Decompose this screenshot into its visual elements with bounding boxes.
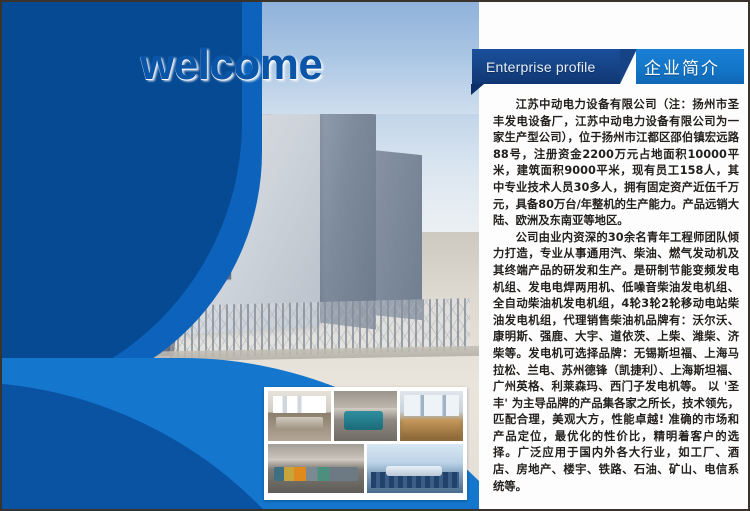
- left-visual-panel: 中动电力 扬州中动电力设备有限公司 Zhongdo: [2, 2, 479, 509]
- ribbon-english-label: Enterprise profile: [472, 59, 595, 75]
- ribbon-notch: [620, 49, 637, 84]
- company-description: 江苏中动电力设备有限公司（注：扬州市圣丰发电设备厂，江苏中动电力设备有限公司为一…: [493, 97, 739, 495]
- ribbon-chinese-label: 企业简介: [636, 54, 720, 79]
- company-description-paragraph-2: 公司由业内资深的30余名青年工程师团队倾力打造，专业从事通用汽、柴油、燃气发动机…: [493, 230, 739, 496]
- assembly-line-photo: [268, 444, 364, 493]
- company-description-paragraph-1: 江苏中动电力设备有限公司（注：扬州市圣丰发电设备厂，江苏中动电力设备有限公司为一…: [493, 97, 739, 230]
- sales-office-photo: [400, 391, 463, 441]
- collage-row-bottom: [268, 444, 463, 493]
- profile-text-panel: Enterprise profile 企业简介 江苏中动电力设备有限公司（注：扬…: [479, 2, 748, 509]
- section-header-ribbon: Enterprise profile 企业简介: [472, 49, 744, 84]
- generator-workshop-photo: [334, 391, 397, 441]
- conference-room-photo: [367, 444, 463, 493]
- ribbon-chinese-segment: 企业简介: [636, 49, 744, 84]
- ribbon-english-segment: Enterprise profile: [472, 49, 620, 84]
- ribbon-corner-fold: [471, 84, 484, 95]
- company-profile-banner: 中动电力 扬州中动电力设备有限公司 Zhongdo: [0, 0, 750, 511]
- page-title: welcome: [140, 40, 322, 90]
- photo-collage: [264, 387, 467, 500]
- collage-row-top: [268, 391, 463, 441]
- office-meeting-photo: [268, 391, 331, 441]
